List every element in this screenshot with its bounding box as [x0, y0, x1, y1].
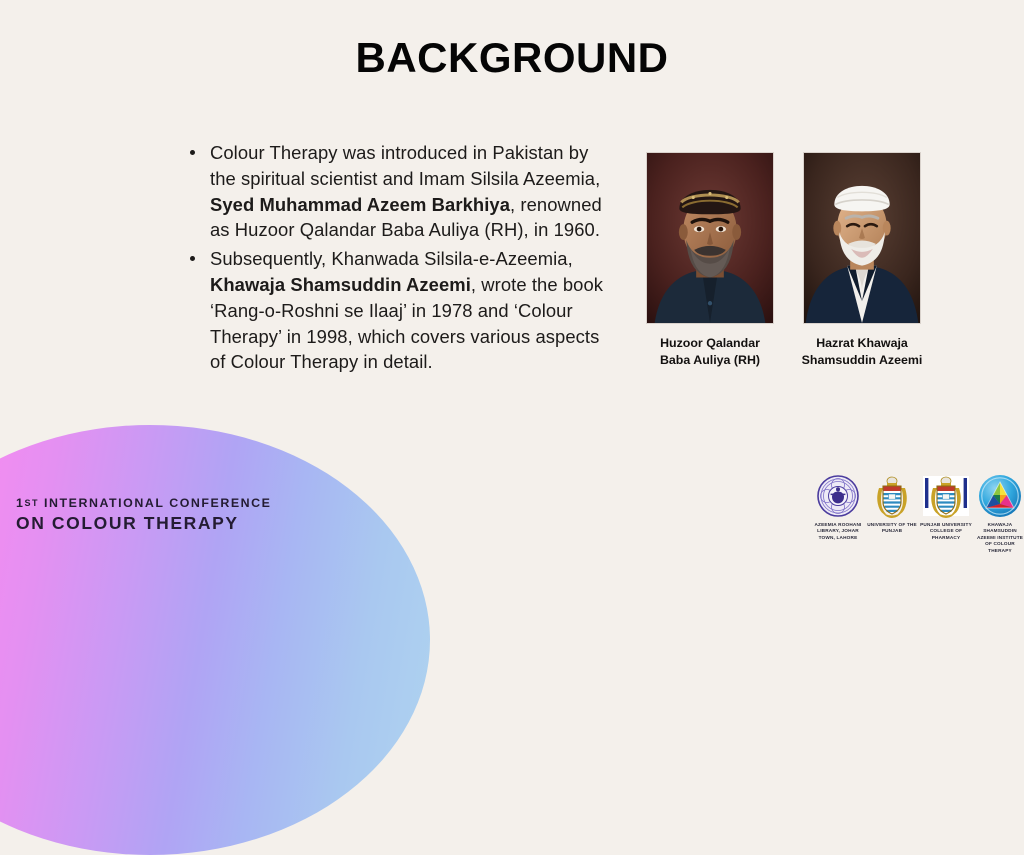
list-item: Colour Therapy was introduced in Pakista…: [186, 140, 608, 243]
portrait-caption-line2: Baba Auliya (RH): [646, 352, 774, 369]
punjab-university-college-of-pharmacy-crest-icon: [920, 474, 972, 518]
portrait-image-huzoor-qalandar: [646, 152, 774, 324]
portrait-card-huzoor-qalandar: Huzoor Qalandar Baba Auliya (RH): [646, 152, 774, 368]
body-text-column: Colour Therapy was introduced in Pakista…: [186, 140, 608, 378]
portrait-caption-line2: Shamsuddin Azeemi: [796, 352, 928, 369]
logo-caption: UNIVERSITY OF THE PUNJAB: [866, 522, 918, 535]
conference-line-1: 1ST INTERNATIONAL CONFERENCE: [16, 496, 271, 510]
portrait-caption-line1: Huzoor Qalandar: [646, 335, 774, 352]
list-item: Subsequently, Khanwada Silsila-e-Azeemia…: [186, 246, 608, 375]
bullet-text-part1: Colour Therapy was introduced in Pakista…: [210, 142, 600, 189]
portrait-caption: Hazrat Khawaja Shamsuddin Azeemi: [796, 335, 928, 368]
logo-block-university-of-the-punjab: UNIVERSITY OF THE PUNJAB: [866, 474, 918, 535]
logo-block-azeemia-roohani-library: AZEEMIA ROOHANI LIBRARY, JOHAR TOWN, LAH…: [812, 474, 864, 541]
logo-caption: PUNJAB UNIVERSITY COLLEGE OF PHARMACY: [920, 522, 972, 541]
portrait-image-hazrat-khawaja: [803, 152, 921, 324]
conference-line-2: ON COLOUR THERAPY: [16, 513, 271, 534]
page-title: BACKGROUND: [0, 34, 1024, 82]
conference-lockup: 1ST INTERNATIONAL CONFERENCE ON COLOUR T…: [16, 496, 271, 534]
partner-logo-strip: AZEEMIA ROOHANI LIBRARY, JOHAR TOWN, LAH…: [812, 474, 1024, 554]
portrait-caption-line1: Hazrat Khawaja: [796, 335, 928, 352]
portrait-gallery: Huzoor Qalandar Baba Auliya (RH): [646, 152, 936, 368]
bullet-dot-icon: [190, 150, 195, 155]
portrait-caption: Huzoor Qalandar Baba Auliya (RH): [646, 335, 774, 368]
conference-line-1-rest: INTERNATIONAL CONFERENCE: [39, 496, 271, 510]
logo-caption: AZEEMIA ROOHANI LIBRARY, JOHAR TOWN, LAH…: [812, 522, 864, 541]
bullet-text-bold: Khawaja Shamsuddin Azeemi: [210, 274, 471, 295]
conference-ordinal-suffix: ST: [24, 498, 39, 508]
university-of-the-punjab-crest-icon: [866, 474, 918, 518]
bullet-text-part1: Subsequently, Khanwada Silsila-e-Azeemia…: [210, 248, 573, 269]
gradient-blob-decoration: [0, 425, 430, 855]
portrait-card-hazrat-khawaja: Hazrat Khawaja Shamsuddin Azeemi: [796, 152, 928, 368]
azeemia-roohani-library-emblem-icon: [812, 474, 864, 518]
logo-block-khawaja-shamsuddin-azeemi-institute: KHAWAJA SHAMSUDDIN AZEEMI INSTITUTE OF C…: [974, 474, 1024, 554]
bullet-dot-icon: [190, 256, 195, 261]
bullet-text-bold: Syed Muhammad Azeem Barkhiya: [210, 194, 510, 215]
logo-caption: KHAWAJA SHAMSUDDIN AZEEMI INSTITUTE OF C…: [974, 522, 1024, 554]
logo-block-punjab-university-college-of-pharmacy: PUNJAB UNIVERSITY COLLEGE OF PHARMACY: [920, 474, 972, 541]
khawaja-shamsuddin-azeemi-institute-prism-icon: [974, 474, 1024, 518]
bullet-list: Colour Therapy was introduced in Pakista…: [186, 140, 608, 375]
